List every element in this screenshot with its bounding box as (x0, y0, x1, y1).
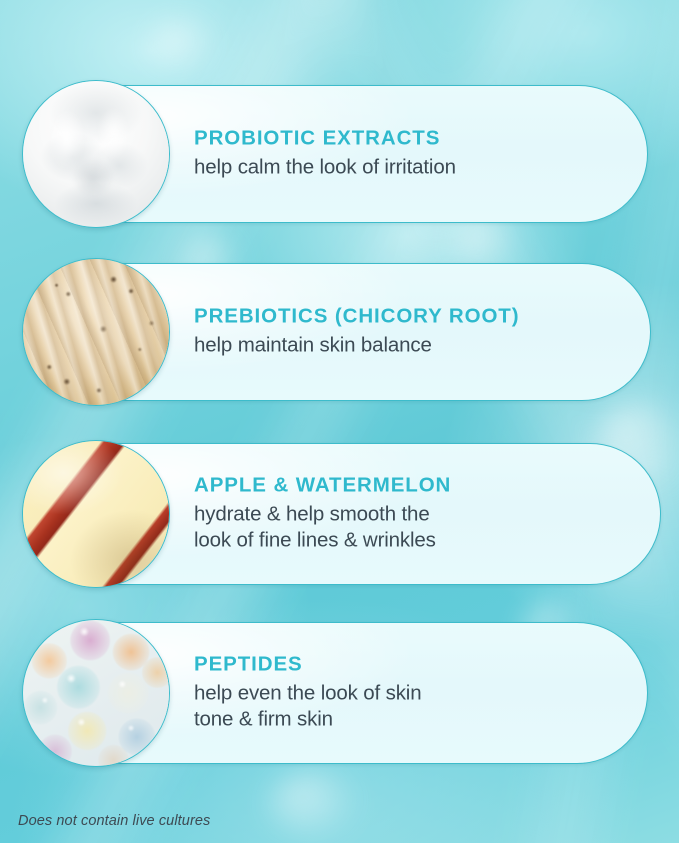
ingredient-list: PROBIOTIC EXTRACTShelp calm the look of … (0, 0, 679, 843)
ingredient-description-line: look of fine lines & wrinkles (194, 527, 624, 553)
ingredient-thumbnail (22, 619, 170, 767)
ingredient-row: PREBIOTICS (CHICORY ROOT)help maintain s… (0, 263, 679, 401)
chicory-root-image (23, 259, 169, 405)
ingredient-description-line: help even the look of skin (194, 681, 624, 707)
ingredient-thumbnail (22, 258, 170, 406)
ingredient-heading: APPLE & WATERMELON (194, 475, 624, 498)
ingredient-copy: PEPTIDEShelp even the look of skintone &… (194, 654, 624, 733)
ingredient-description-line: tone & firm skin (194, 706, 624, 732)
ingredient-thumbnail (22, 440, 170, 588)
ingredient-description-line: help calm the look of irritation (194, 155, 624, 181)
ingredient-row: PROBIOTIC EXTRACTShelp calm the look of … (0, 85, 679, 223)
apple-watermelon-slice-image (23, 441, 169, 587)
ingredient-heading: PEPTIDES (194, 654, 624, 677)
ingredient-copy: PROBIOTIC EXTRACTShelp calm the look of … (194, 128, 624, 181)
ingredient-description-line: hydrate & help smooth the (194, 502, 624, 528)
ingredient-heading: PREBIOTICS (CHICORY ROOT) (194, 306, 624, 329)
footnote-disclaimer: Does not contain live cultures (18, 813, 210, 829)
peptide-beads-image (23, 620, 169, 766)
ingredient-copy: PREBIOTICS (CHICORY ROOT)help maintain s… (194, 306, 624, 359)
ingredient-copy: APPLE & WATERMELONhydrate & help smooth … (194, 475, 624, 554)
white-cream-swirl-image (23, 81, 169, 227)
ingredient-row: PEPTIDEShelp even the look of skintone &… (0, 622, 679, 764)
ingredient-heading: PROBIOTIC EXTRACTS (194, 128, 624, 151)
ingredient-description-line: help maintain skin balance (194, 333, 624, 359)
ingredient-row: APPLE & WATERMELONhydrate & help smooth … (0, 443, 679, 585)
ingredient-thumbnail (22, 80, 170, 228)
